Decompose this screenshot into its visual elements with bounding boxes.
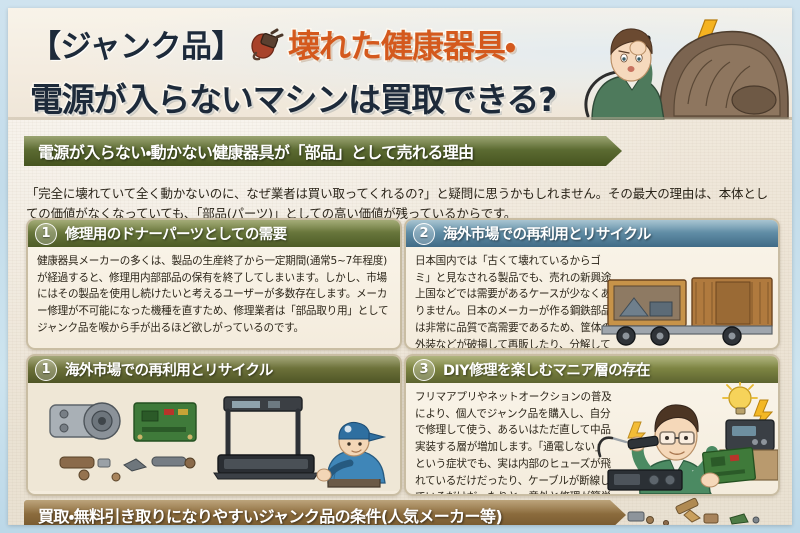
hobbyist-soldering-circuit-board-illustration	[592, 382, 778, 494]
reason-card-2: 2 海外市場での再利用とリサイクル 日本国内では「古くて壊れているからゴミ」と見…	[404, 218, 780, 350]
card-3-number-badge: 1	[35, 359, 57, 381]
header-title-line-2: 電源が入らないマシンは買取できる?	[30, 73, 575, 120]
header-title-orange: 壊れた健康器具・	[288, 21, 515, 67]
scattered-scrap-parts-illustration	[620, 496, 770, 525]
header-title-line-1: 【ジャンク品】 壊れた健康器具・	[30, 20, 575, 67]
reason-card-3: 1 海外市場での再利用とリサイクル	[26, 354, 402, 496]
card-1-header: 1 修理用のドナーパーツとしての需要	[28, 220, 400, 247]
footer-banner-label: 買取・無料引き取りになりやすいジャンク品の条件(人気メーカー等)	[38, 503, 502, 525]
card-4-title: DIY修理を楽しむマニア層の存在	[443, 359, 650, 380]
card-2-body: 日本国内では「古くて壊れているからゴミ」と見なされる製品でも、売れの新興途上国な…	[406, 247, 624, 350]
power-plug-icon	[248, 27, 284, 61]
header-title-group: 【ジャンク品】 壊れた健康器具・ 電源が入らないマシンは買取できる?	[30, 20, 575, 120]
header-divider	[8, 117, 792, 120]
card-2-header: 2 海外市場での再利用とリサイクル	[406, 220, 778, 247]
header-banner: 【ジャンク品】 壊れた健康器具・ 電源が入らないマシンは買取できる?	[8, 8, 792, 120]
section-banner-label: 電源が入らない・動かない健康器具が「部品」として売れる理由	[38, 139, 474, 163]
junk-label: 【ジャンク品】	[30, 21, 242, 66]
card-3-header: 1 海外市場での再利用とリサイクル	[28, 356, 400, 383]
card-1-title: 修理用のドナーパーツとしての需要	[65, 223, 287, 244]
card-4-number-badge: 3	[413, 359, 435, 381]
treadmill-repair-technician-and-parts-illustration	[28, 383, 400, 491]
card-1-number-badge: 1	[35, 223, 57, 245]
section-banner-reasons: 電源が入らない・動かない健康器具が「部品」として売れる理由	[24, 136, 622, 166]
infographic-page: 【ジャンク品】 壊れた健康器具・ 電源が入らないマシンは買取できる? 電源が入ら…	[0, 0, 800, 533]
paper-canvas: 【ジャンク品】 壊れた健康器具・ 電源が入らないマシンは買取できる? 電源が入ら…	[8, 8, 792, 525]
card-4-header: 3 DIY修理を楽しむマニア層の存在	[406, 356, 778, 383]
card-2-title: 海外市場での再利用とリサイクル	[443, 223, 651, 244]
card-3-title: 海外市場での再利用とリサイクル	[65, 359, 273, 380]
container-truck-loading-scrap-illustration	[600, 272, 778, 348]
card-2-number-badge: 2	[413, 223, 435, 245]
reason-card-1: 1 修理用のドナーパーツとしての需要 健康器具メーカーの多くは、製品の生産終了か…	[26, 218, 402, 350]
card-1-body: 健康器具メーカーの多くは、製品の生産終了から一定期間(通常5~7年程度)が経過す…	[28, 247, 400, 341]
reason-card-4: 3 DIY修理を楽しむマニア層の存在 フリマアプリやネットオークションの普及によ…	[404, 354, 780, 496]
footer-banner-conditions: 買取・無料引き取りになりやすいジャンク品の条件(人気メーカー等)	[24, 500, 626, 525]
